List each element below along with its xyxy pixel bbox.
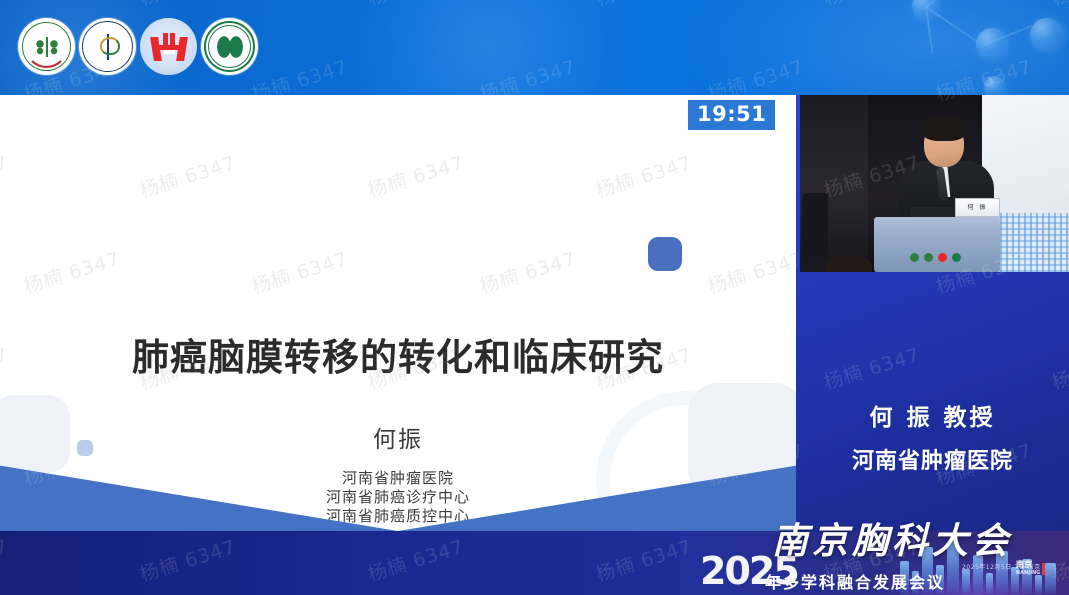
slide-affiliation-line: 河南省肿瘤医院 (0, 469, 796, 488)
skyline-building (1035, 575, 1042, 595)
slide-deco-plus-blue (648, 237, 682, 271)
stream-timestamp: 19:51 (688, 100, 775, 130)
podium-logo-4 (952, 253, 961, 262)
logo-zhengzhou-university-hospital (18, 18, 75, 75)
podium-logo-1 (910, 253, 919, 262)
nanjing-badge-cn: 南京 (1016, 560, 1040, 569)
molecule-icon (880, 0, 1069, 95)
slide-speaker-name: 何振 (0, 420, 796, 454)
conference-title: 南京胸科大会 (772, 512, 1012, 564)
nanjing-badge-bar (1042, 563, 1045, 575)
skyline-building (1045, 563, 1056, 595)
presentation-slide: 肺癌脑膜转移的转化和临床研究 何振 河南省肿瘤医院 河南省肺癌诊疗中心 河南省肺… (0, 95, 796, 531)
video-podium (874, 217, 1000, 272)
speaker-video-tile[interactable]: 何 振 (800, 95, 1069, 272)
banner-glow-mid (330, 0, 650, 95)
skyline-building (962, 569, 970, 595)
conference-subtitle: 年多学科融合发展会议 (765, 569, 945, 593)
audience-silhouette (826, 255, 872, 272)
podium-logo-3 (938, 253, 947, 262)
organizer-logo-row (18, 18, 258, 75)
logo-hospital-red-mark (140, 18, 197, 75)
logo-jiangsu-medical-association (79, 18, 136, 75)
podium-logo-strip (910, 253, 961, 262)
slide-title: 肺癌脑膜转移的转化和临床研究 (0, 327, 796, 381)
nanjing-badge: 南京 NANJING (1016, 560, 1045, 578)
top-banner (0, 0, 1069, 95)
bottom-banner-left-block (0, 531, 680, 595)
logo-lung-green-emblem (201, 18, 258, 75)
speaker-nameplate: 何 振 (955, 198, 1000, 217)
skyline-building (986, 573, 993, 595)
speaker-hair (921, 115, 967, 141)
nanjing-badge-en: NANJING (1016, 569, 1040, 578)
video-chair (802, 193, 828, 263)
speaker-name-label: 何 振 教授 (796, 398, 1069, 432)
speaker-affiliation-label: 河南省肿瘤医院 (796, 443, 1069, 475)
podium-logo-2 (924, 253, 933, 262)
broadcast-viewport: 肺癌脑膜转移的转化和临床研究 何振 河南省肿瘤医院 河南省肺癌诊疗中心 河南省肺… (0, 0, 1069, 595)
